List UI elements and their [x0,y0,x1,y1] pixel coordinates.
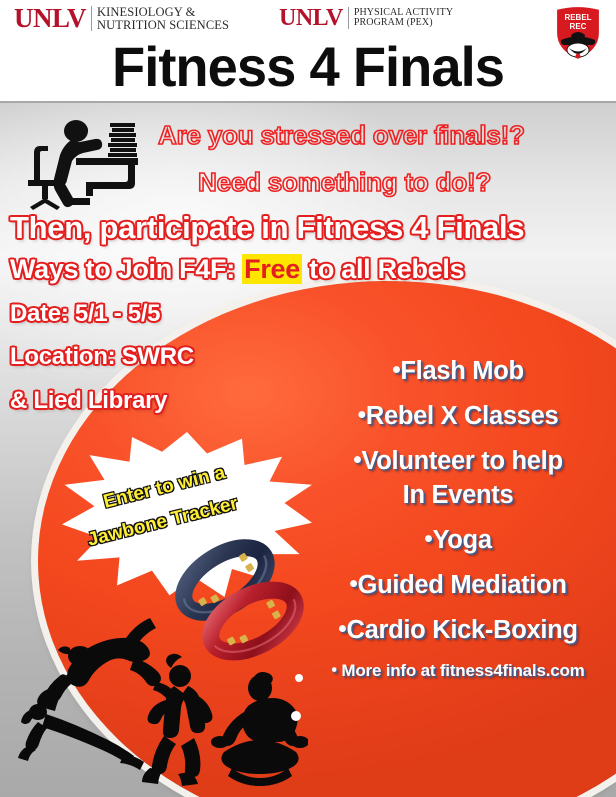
website-label: More info at fitness4finals.com [341,661,584,680]
question-line-1: Are you stressed over finals!? [158,120,525,151]
lockup-divider [348,7,349,29]
rebel-rec-line-2: REC [570,22,587,31]
bullet-icon: • [358,402,366,429]
question-line-2: Need something to do!? [198,167,491,198]
list-item: •Flash Mob [300,358,616,384]
fitness-4-finals-flyer: UNLV KINESIOLOGY & NUTRITION SCIENCES UN… [0,0,616,797]
unlv-pex-logo: UNLV PHYSICAL ACTIVITY PROGRAM (PEX) [279,6,453,30]
unlv-wordmark: UNLV [279,6,343,30]
fitness-silhouettes [8,582,308,792]
list-item: •Volunteer to help [300,448,616,474]
lockup-divider [91,6,92,31]
more-info-line[interactable]: • More info at fitness4finals.com [300,662,616,679]
list-item: •Guided Mediation [300,572,616,598]
activity-list: •Flash Mob •Rebel X Classes •Volunteer t… [300,358,616,679]
unlv-kinesiology-logo: UNLV KINESIOLOGY & NUTRITION SCIENCES [14,5,229,32]
unlv-wordmark: UNLV [14,5,86,32]
page-title: Fitness 4 Finals [9,36,607,98]
free-highlight-badge: Free [242,254,302,284]
list-item: •Rebel X Classes [300,403,616,429]
list-item-label: In Events [403,481,514,509]
event-date: Date: 5/1 - 5/5 [10,300,160,328]
list-item-label: Cardio Kick-Boxing [346,616,577,644]
ways-suffix: to all Rebels [302,254,464,284]
list-item-label: Guided Mediation [358,571,567,599]
cta-ways-to-join-line: Ways to Join F4F: Free to all Rebels [10,254,464,285]
list-item: •Yoga [300,527,616,553]
list-item-label: Flash Mob [400,357,523,385]
bullet-icon: • [331,661,336,679]
list-item-label: Rebel X Classes [366,402,559,430]
header-band: UNLV KINESIOLOGY & NUTRITION SCIENCES UN… [0,0,616,103]
list-item-continuation: In Events [300,482,616,508]
rebel-rec-line-1: REBEL [564,13,591,22]
event-location: Location: SWRC [10,343,194,371]
stressed-student-icon [16,112,144,210]
ways-prefix: Ways to Join F4F: [10,254,242,284]
event-location-secondary: & Lied Library [10,387,167,415]
list-item-label: Volunteer to help [361,447,562,475]
department-line-2: PROGRAM (PEX) [354,17,433,28]
unlv-kinesiology-department-name: KINESIOLOGY & NUTRITION SCIENCES [97,6,229,32]
lotus-meditation-silhouette [211,672,308,786]
cta-participate-line: Then, participate in Fitness 4 Finals [10,210,524,246]
bullet-icon: • [349,571,357,598]
list-item: •Cardio Kick-Boxing [300,617,616,643]
unlv-pex-department-name: PHYSICAL ACTIVITY PROGRAM (PEX) [354,8,453,28]
list-item-label: Yoga [432,526,491,554]
department-line-2: NUTRITION SCIENCES [97,18,229,32]
